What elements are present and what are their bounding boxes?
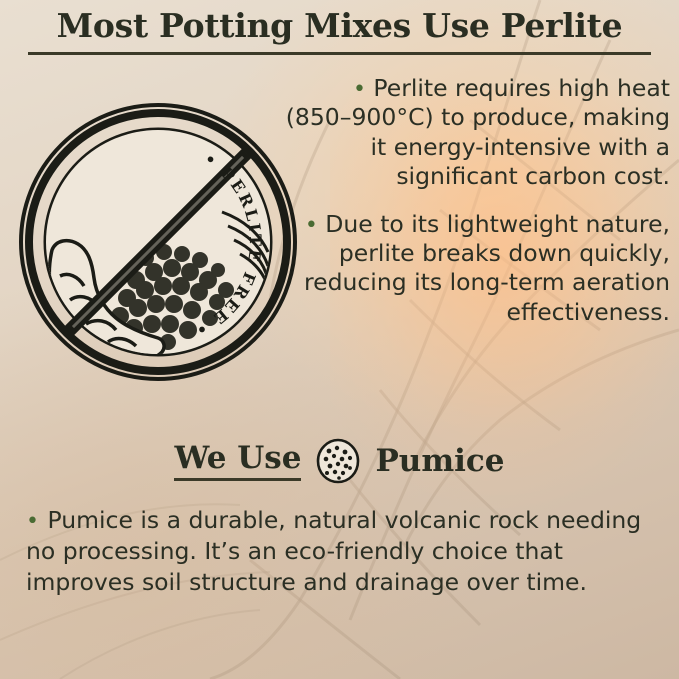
bullet-text-2: Due to its lightweight nature, perlite b…	[304, 210, 670, 326]
bullet-marker-1: •	[353, 77, 366, 102]
pumice-description-text: Pumice is a durable, natural volcanic ro…	[26, 506, 641, 596]
title-underline	[28, 52, 651, 55]
bullet-marker-2: •	[305, 213, 318, 238]
bullet-text-1: Perlite requires high heat (850–900°C) t…	[286, 74, 670, 190]
we-use-row: We Use Pumice	[0, 438, 679, 484]
we-use-label: We Use	[174, 441, 301, 481]
no-perlite-stamp-icon: • PERLITE FREE •	[16, 100, 300, 384]
infographic-card: Most Potting Mixes Use Perlite	[0, 0, 679, 679]
pumice-description: • Pumice is a durable, natural volcanic …	[26, 505, 656, 598]
pumice-stone-icon	[315, 438, 361, 484]
bullet-item: • Perlite requires high heat (850–900°C)…	[284, 74, 670, 192]
title-block: Most Potting Mixes Use Perlite	[0, 8, 679, 49]
page-title: Most Potting Mixes Use Perlite	[57, 8, 623, 49]
pumice-label: Pumice	[375, 444, 504, 478]
bullet-item: • Due to its lightweight nature, perlite…	[284, 210, 670, 328]
perlite-bullets: • Perlite requires high heat (850–900°C)…	[284, 74, 670, 327]
bullet-marker-3: •	[26, 509, 39, 534]
